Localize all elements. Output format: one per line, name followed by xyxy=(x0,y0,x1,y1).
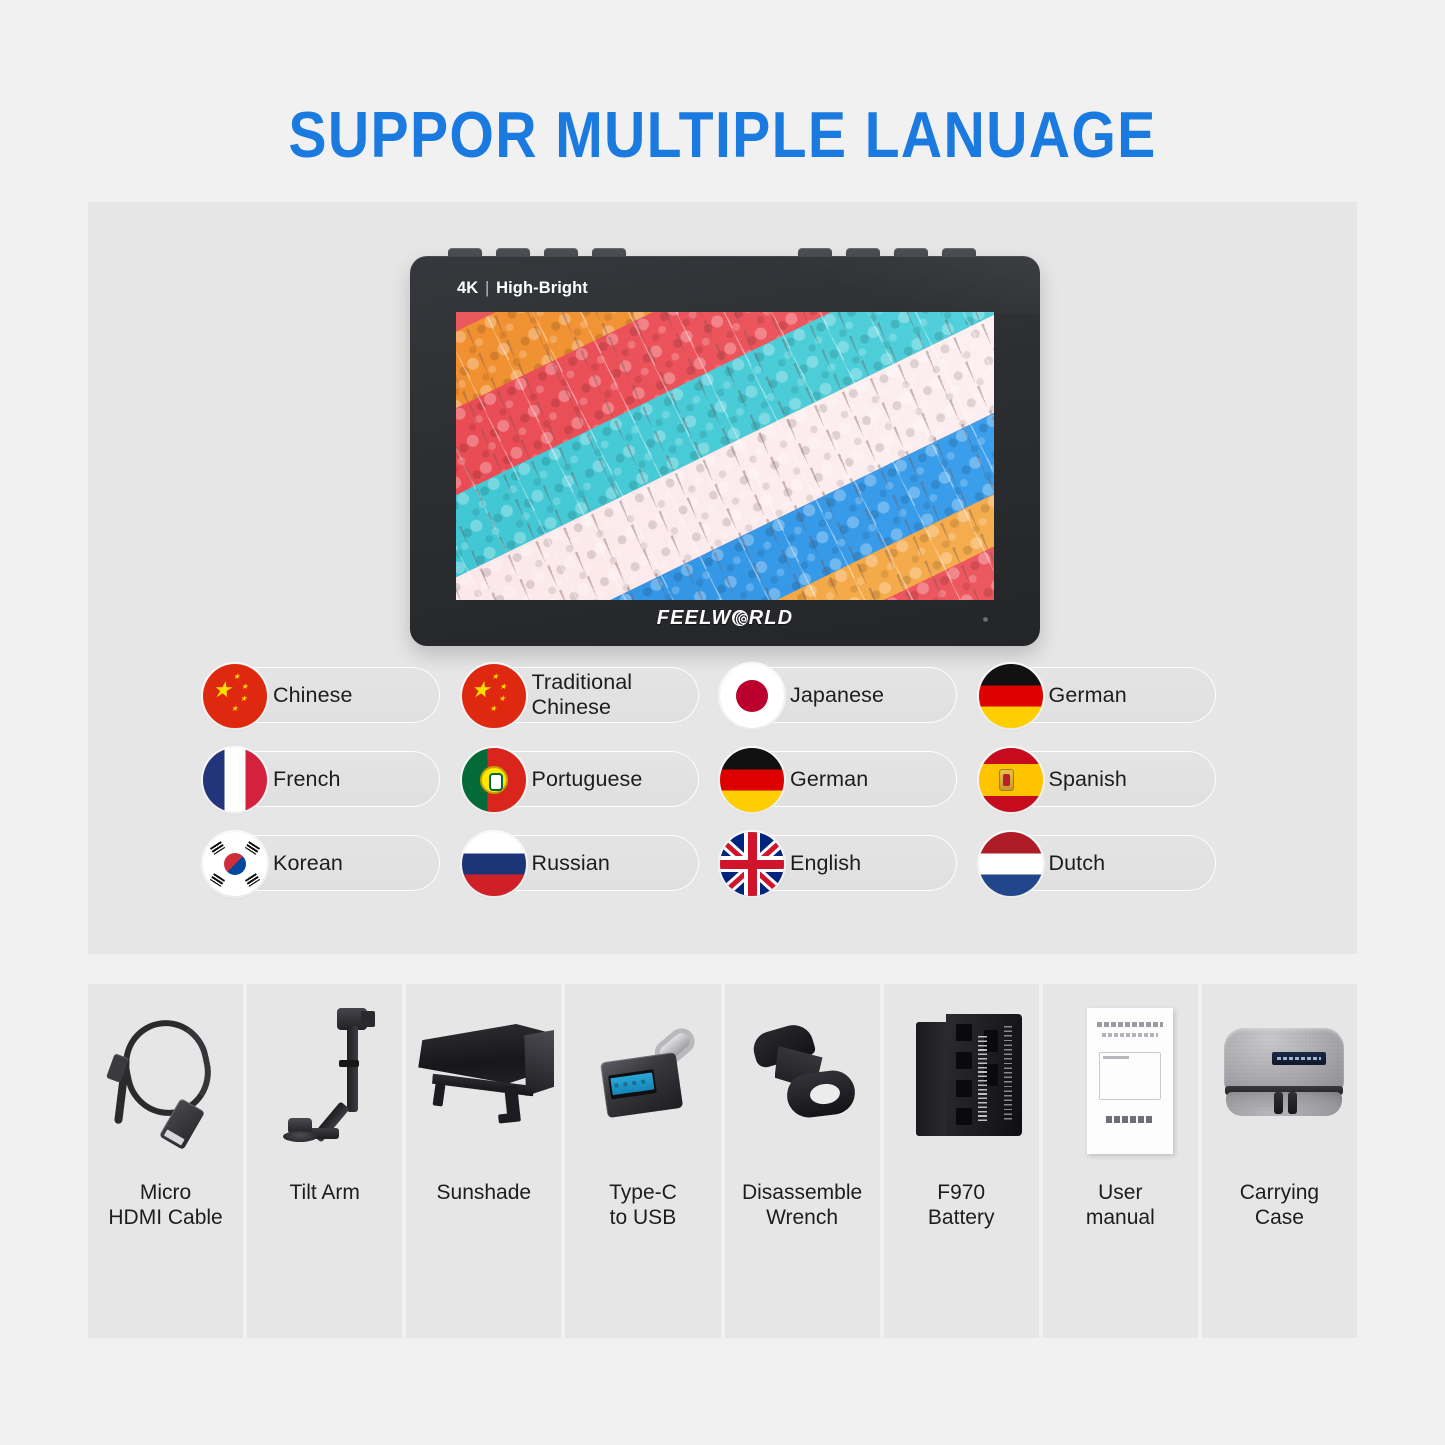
sunshade-image xyxy=(406,984,561,1180)
language-label: German xyxy=(790,767,868,792)
accessory-label: Disassemble Wrench xyxy=(738,1180,866,1230)
flag-japan-icon xyxy=(720,664,784,728)
flag-spain-icon xyxy=(979,748,1043,812)
accessory-label: F970 Battery xyxy=(924,1180,999,1230)
accessory-cell-micro-hdmi-cable[interactable]: Micro HDMI Cable xyxy=(88,984,243,1338)
accessory-label: User manual xyxy=(1082,1180,1159,1230)
flag-germany-icon xyxy=(720,748,784,812)
language-pill-french[interactable]: French xyxy=(208,751,440,807)
language-label: English xyxy=(790,851,861,876)
monitor-screen xyxy=(456,312,994,600)
language-pill-russian[interactable]: Russian xyxy=(467,835,699,891)
accessory-label: Sunshade xyxy=(433,1180,536,1205)
monitor-brand-logo: FEELWRLD xyxy=(410,607,1040,630)
screen-image-lantern-wall xyxy=(456,312,994,600)
language-label: Dutch xyxy=(1049,851,1106,876)
language-pill-dutch[interactable]: Dutch xyxy=(984,835,1216,891)
accessory-cell-user-manual[interactable]: User manual xyxy=(1043,984,1198,1338)
flag-china-icon: ★★★★★ xyxy=(203,664,267,728)
flag-netherlands-icon xyxy=(979,832,1043,896)
flag-southkorea-icon xyxy=(203,832,267,896)
flag-china-icon: ★★★★★ xyxy=(462,664,526,728)
language-pill-korean[interactable]: Korean xyxy=(208,835,440,891)
badge-resolution: 4K xyxy=(457,279,478,297)
accessory-cell-f970-battery[interactable]: F970 Battery xyxy=(884,984,1039,1338)
flag-portugal-icon xyxy=(462,748,526,812)
flag-germany-icon xyxy=(979,664,1043,728)
disassemble-wrench-image xyxy=(725,984,880,1180)
language-label: Russian xyxy=(532,851,610,876)
language-pill-spanish[interactable]: Spanish xyxy=(984,751,1216,807)
power-indicator-led xyxy=(983,617,988,622)
accessories-grid: Micro HDMI Cable Tilt Arm Sunshade Type-… xyxy=(88,984,1357,1338)
language-label: French xyxy=(273,767,341,792)
language-label: Korean xyxy=(273,851,343,876)
language-label: German xyxy=(1049,683,1127,708)
accessory-cell-tilt-arm[interactable]: Tilt Arm xyxy=(247,984,402,1338)
accessory-label: Tilt Arm xyxy=(285,1180,363,1205)
language-pill-japanese[interactable]: Japanese xyxy=(725,667,957,723)
type-c-to-usb-adapter-image xyxy=(565,984,720,1180)
brand-text-first: FEELW xyxy=(657,607,732,629)
language-showcase-panel: 4K | High-Bright FEELWRLD xyxy=(88,202,1357,954)
accessory-label: Micro HDMI Cable xyxy=(104,1180,226,1230)
micro-hdmi-cable-image xyxy=(88,984,243,1180)
flag-unitedkingdom-icon xyxy=(720,832,784,896)
f970-battery-image xyxy=(884,984,1039,1180)
language-list: ★★★★★ Chinese ★★★★★ Traditional Chinese … xyxy=(208,667,1238,891)
badge-brightness: High-Bright xyxy=(496,279,588,297)
language-label: Traditional Chinese xyxy=(532,670,688,720)
user-manual-image xyxy=(1043,984,1198,1180)
monitor-spec-badge: 4K | High-Bright xyxy=(457,279,588,298)
accessory-cell-carrying-case[interactable]: Carrying Case xyxy=(1202,984,1357,1338)
accessory-cell-sunshade[interactable]: Sunshade xyxy=(406,984,561,1338)
language-label: Portuguese xyxy=(532,767,643,792)
monitor-body: 4K | High-Bright FEELWRLD xyxy=(410,256,1040,646)
language-label: Chinese xyxy=(273,683,353,708)
accessory-cell-disassemble-wrench[interactable]: Disassemble Wrench xyxy=(725,984,880,1338)
brand-text-last: RLD xyxy=(749,607,794,629)
page-title: SUPPOR MULTIPLE LANUAGE xyxy=(87,96,1359,174)
tilt-arm-image xyxy=(247,984,402,1180)
flag-russia-icon xyxy=(462,832,526,896)
badge-separator: | xyxy=(483,279,491,297)
language-pill-german-1[interactable]: German xyxy=(984,667,1216,723)
language-pill-portuguese[interactable]: Portuguese xyxy=(467,751,699,807)
language-pill-chinese[interactable]: ★★★★★ Chinese xyxy=(208,667,440,723)
accessory-label: Type-C to USB xyxy=(605,1180,681,1230)
globe-icon xyxy=(732,610,748,626)
accessory-label: Carrying Case xyxy=(1236,1180,1323,1230)
carrying-case-image xyxy=(1202,984,1357,1180)
language-label: Japanese xyxy=(790,683,884,708)
language-pill-traditional-chinese[interactable]: ★★★★★ Traditional Chinese xyxy=(467,667,699,723)
language-label: Spanish xyxy=(1049,767,1127,792)
language-pill-german-2[interactable]: German xyxy=(725,751,957,807)
accessory-cell-type-c-to-usb[interactable]: Type-C to USB xyxy=(565,984,720,1338)
flag-france-icon xyxy=(203,748,267,812)
language-pill-english[interactable]: English xyxy=(725,835,957,891)
monitor-product-image: 4K | High-Bright FEELWRLD xyxy=(410,246,1040,646)
